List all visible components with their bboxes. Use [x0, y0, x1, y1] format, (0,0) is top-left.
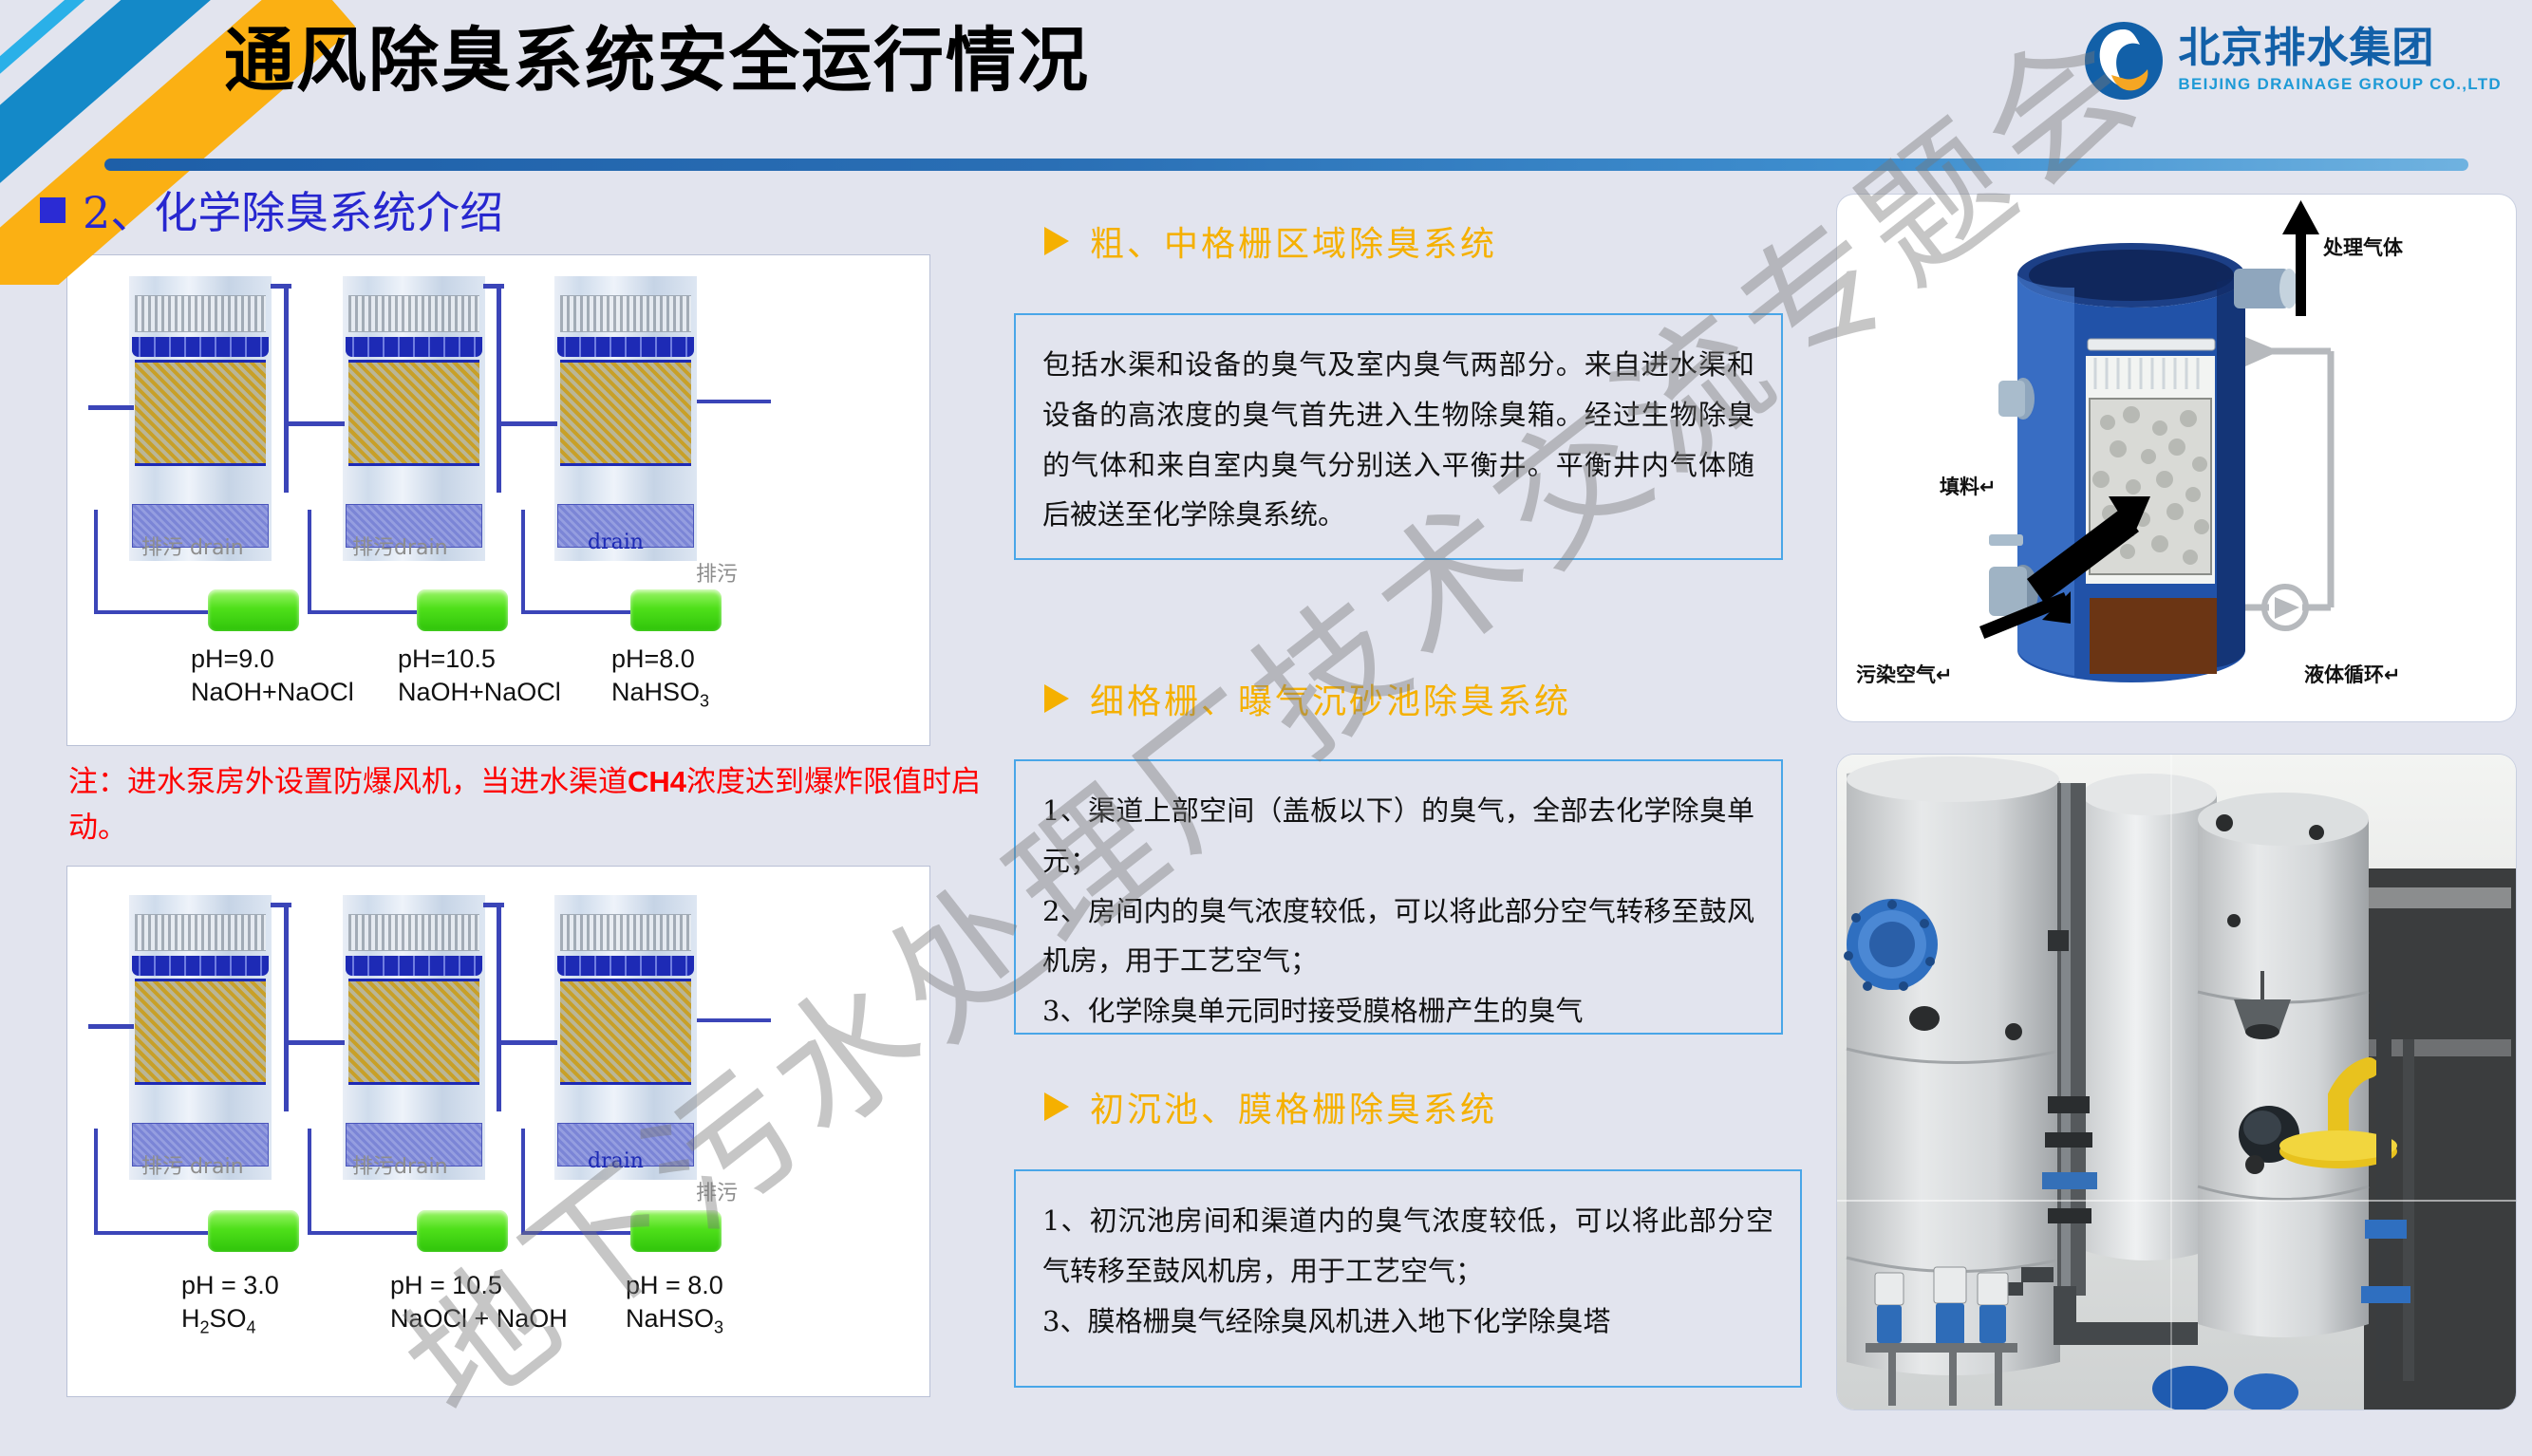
ph-stage-1: pH = 3.0 H2SO4: [181, 1269, 279, 1338]
ph-stage-2: pH=10.5 NaOH+NaOCl: [398, 643, 561, 708]
packing-media: [135, 360, 266, 466]
spray-nozzle-row: [346, 956, 482, 976]
chemical-dosing-tank: [630, 589, 722, 631]
mid-section-heading-label: 初沉池、膜格栅除臭系统: [1090, 1082, 1497, 1131]
recirc-pipe: [94, 1129, 98, 1235]
chemical-dosing-tank: [630, 1210, 722, 1252]
pipe-segment: [284, 1040, 345, 1045]
pipe-segment: [284, 903, 289, 1111]
chemical-scrubber-diagram-bottom: 排污 drain 排污drain drain 排污 pH = 3.0 H2SO4…: [66, 866, 930, 1397]
packing-media: [560, 360, 691, 466]
mid-section-heading-3: 初沉池、膜格栅除臭系统: [1044, 1082, 1497, 1131]
recirc-pipe: [308, 1129, 311, 1235]
arrow-bullet-icon: [1044, 227, 1069, 255]
ph-value: pH=8.0: [611, 644, 695, 673]
mid-section-heading-label: 粗、中格栅区域除臭系统: [1090, 216, 1497, 266]
arrow-bullet-icon: [1044, 684, 1069, 713]
ph-stage-2: pH = 10.5 NaOCl + NaOH: [390, 1269, 568, 1335]
drain-label-1: 排污 drain: [141, 531, 244, 561]
mid-section-heading-label: 细格栅、曝气沉砂池除臭系统: [1090, 674, 1571, 723]
logo-text: 北京排水集团 BEIJING DRAINAGE GROUP CO.,LTD: [2178, 28, 2502, 94]
demister-pad: [560, 914, 691, 951]
mid-section-body-text: 1、渠道上部空间（盖板以下）的臭气，全部去化学除臭单元； 2、房间内的臭气浓度较…: [1042, 786, 1754, 1036]
polluted-air-label: 污染空气↵: [1856, 660, 1953, 688]
pipe-segment: [483, 284, 504, 289]
page-title: 通风除臭系统安全运行情况: [224, 23, 1090, 100]
spray-nozzle-row: [557, 956, 694, 976]
chem-subscript-2: 4: [247, 1317, 256, 1336]
treated-gas-label: 处理气体: [2323, 233, 2403, 261]
liquid-circulation-label: 液体循环↵: [2304, 660, 2401, 688]
section-heading: 2、化学除臭系统介绍: [40, 178, 503, 241]
scrubber-unit-1: [129, 895, 272, 1180]
company-logo: 北京排水集团 BEIJING DRAINAGE GROUP CO.,LTD: [2083, 13, 2502, 108]
pipe-segment: [284, 421, 345, 426]
note-chemical: CH4: [628, 765, 686, 798]
chem-formula: NaOH+NaOCl: [398, 678, 561, 706]
chem-subscript: 2: [200, 1317, 210, 1336]
recirc-pipe: [521, 510, 525, 614]
title-underline-rule: [104, 159, 2468, 171]
recirc-pipe: [521, 1231, 630, 1235]
ph-stage-3: pH = 8.0 NaHSO3: [626, 1269, 723, 1338]
outlet-pipe: [697, 1018, 771, 1022]
section-heading-label: 2、化学除臭系统介绍: [83, 178, 503, 241]
pipe-segment: [284, 284, 289, 493]
chemical-dosing-tank: [417, 1210, 508, 1252]
recirc-pipe: [308, 610, 417, 614]
packing-media: [348, 979, 479, 1085]
mid-section-body-3: 1、初沉池房间和渠道内的臭气浓度较低，可以将此部分空气转移至鼓风机房，用于工艺空…: [1014, 1169, 1802, 1388]
chem-formula: NaOH+NaOCl: [191, 678, 354, 706]
note-prefix: 注：进水泵房外设置防爆风机，当进水渠道: [68, 765, 628, 799]
mid-section-body-2: 1、渠道上部空间（盖板以下）的臭气，全部去化学除臭单元； 2、房间内的臭气浓度较…: [1014, 759, 1783, 1035]
drain-label-1: 排污 drain: [141, 1149, 244, 1180]
demister-pad: [135, 295, 266, 332]
ph-value: pH=9.0: [191, 644, 274, 673]
arrow-bullet-icon: [1044, 1092, 1069, 1121]
recirc-pipe: [94, 1231, 208, 1235]
chem-formula-tail: SO: [210, 1304, 247, 1333]
outlet-pipe: [697, 400, 771, 403]
packing-label: 填料↵: [1940, 472, 1997, 500]
ph-value: pH = 8.0: [626, 1271, 723, 1299]
chem-formula: H: [181, 1304, 200, 1333]
scrubber-unit-3: [554, 895, 697, 1180]
vessel-graphic: 处理气体 填料↵ 污染空气↵ 液体循环↵: [1837, 195, 2516, 721]
packing-media: [348, 360, 479, 466]
pipe-segment: [271, 284, 291, 289]
pipe-segment: [483, 903, 504, 907]
pipe-segment: [497, 284, 501, 493]
inlet-pipe: [88, 405, 134, 410]
chem-formula: NaHSO: [626, 1304, 714, 1333]
ph-stage-1: pH=9.0 NaOH+NaOCl: [191, 643, 354, 708]
spray-nozzle-row: [132, 956, 269, 976]
recirc-pipe: [308, 510, 311, 614]
drain-label-2: 排污drain: [352, 531, 448, 561]
ph-stage-3: pH=8.0 NaHSO3: [611, 643, 709, 712]
recirc-pipe: [521, 1129, 525, 1235]
logo-mark-icon: [2083, 20, 2165, 102]
packing-media: [135, 979, 266, 1085]
chemical-dosing-tank: [208, 589, 299, 631]
packing-media: [560, 979, 691, 1085]
mid-section-body-text: 1、初沉池房间和渠道内的臭气浓度较低，可以将此部分空气转移至鼓风机房，用于工艺空…: [1042, 1196, 1773, 1346]
recirc-pipe: [308, 1231, 417, 1235]
scrubber-unit-1: [129, 276, 272, 561]
ph-value: pH=10.5: [398, 644, 496, 673]
pipe-segment: [497, 1040, 557, 1045]
pipe-segment: [497, 421, 557, 426]
chem-subscript: 3: [700, 691, 709, 710]
scrubber-unit-2: [343, 895, 485, 1180]
spray-nozzle-row: [346, 337, 482, 357]
spray-nozzle-row: [557, 337, 694, 357]
demister-pad: [348, 914, 479, 951]
chem-formula: NaOCl + NaOH: [390, 1304, 568, 1333]
logo-english-name: BEIJING DRAINAGE GROUP CO.,LTD: [2178, 75, 2502, 94]
recirc-pipe: [94, 510, 98, 614]
recirc-pipe: [521, 610, 630, 614]
recirc-pipe: [94, 610, 208, 614]
scrubber-unit-3: [554, 276, 697, 561]
chemical-dosing-tank: [417, 589, 508, 631]
chem-subscript: 3: [714, 1317, 723, 1336]
chem-formula: NaHSO: [611, 678, 700, 706]
chemical-scrubber-diagram-top: 排污 drain 排污drain drain 排污 pH=9.0 NaOH+Na…: [66, 254, 930, 746]
mid-section-heading-1: 粗、中格栅区域除臭系统: [1044, 216, 1497, 266]
logo-chinese-name: 北京排水集团: [2178, 28, 2502, 69]
drain-label-4: 排污: [696, 1176, 738, 1206]
pipe-segment: [271, 903, 291, 907]
spray-nozzle-row: [132, 337, 269, 357]
deodorization-tower-photo: [1837, 755, 2516, 1409]
pipe-segment: [497, 903, 501, 1111]
scrubber-unit-2: [343, 276, 485, 561]
drain-label-3: drain: [588, 1149, 644, 1173]
square-bullet-icon: [40, 197, 66, 223]
ph-value: pH = 3.0: [181, 1271, 279, 1299]
demister-pad: [560, 295, 691, 332]
bio-scrubber-vessel-illustration: 处理气体 填料↵ 污染空气↵ 液体循环↵: [1837, 195, 2516, 721]
ph-value: pH = 10.5: [390, 1271, 502, 1299]
demister-pad: [135, 914, 266, 951]
mid-section-heading-2: 细格栅、曝气沉砂池除臭系统: [1044, 674, 1571, 723]
drain-label-2: 排污drain: [352, 1149, 448, 1180]
demister-pad: [348, 295, 479, 332]
chemical-dosing-tank: [208, 1210, 299, 1252]
mid-section-body-text: 包括水渠和设备的臭气及室内臭气两部分。来自进水渠和设备的高浓度的臭气首先进入生物…: [1042, 340, 1754, 540]
inlet-pipe: [88, 1024, 134, 1029]
drain-label-4: 排污: [696, 557, 738, 588]
drain-label-3: drain: [588, 531, 644, 554]
warning-note: 注：进水泵房外设置防爆风机，当进水渠道CH4浓度达到爆炸限值时启动。: [68, 759, 1027, 850]
mid-section-body-1: 包括水渠和设备的臭气及室内臭气两部分。来自进水渠和设备的高浓度的臭气首先进入生物…: [1014, 313, 1783, 560]
